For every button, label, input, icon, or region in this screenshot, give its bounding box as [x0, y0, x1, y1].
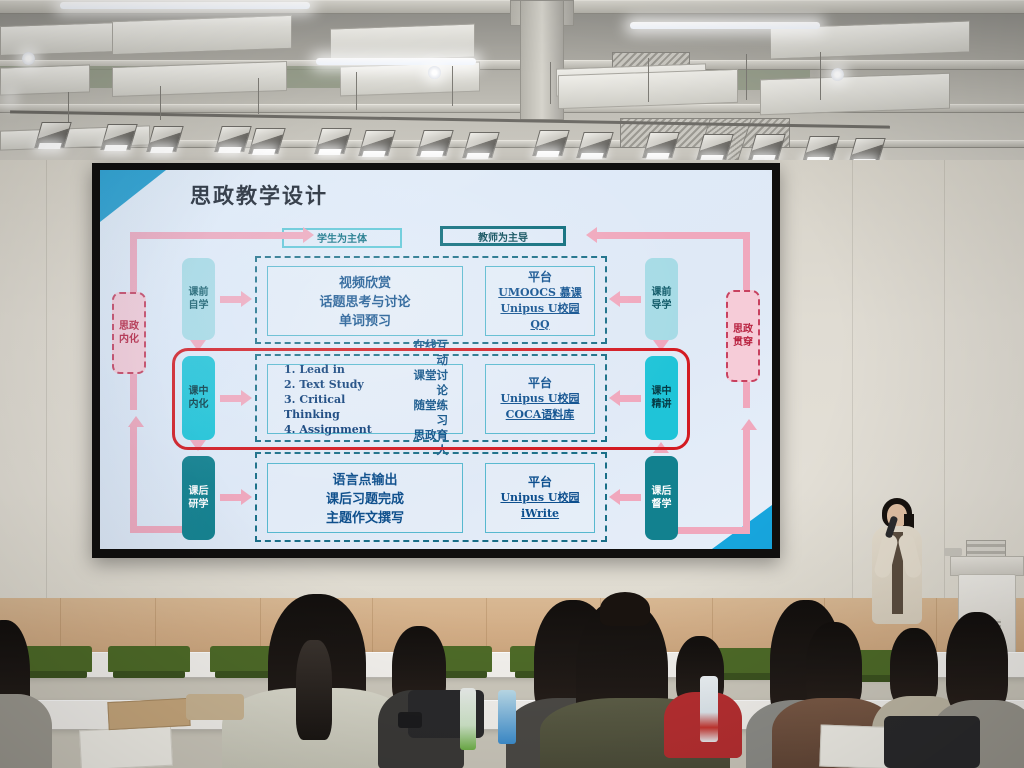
arrow-segment	[596, 232, 750, 239]
row-group-3: 语言点输出 课后习题完成 主题作文撰写 平台 Unipus U校园 iWrite	[255, 452, 607, 542]
row-group-2: 1. Lead in 2. Text Study 3. Critical Thi…	[255, 354, 607, 442]
activity-cn-item: 课堂讨论	[403, 369, 448, 399]
header-chip-teacher: 教师为主导	[440, 226, 566, 246]
paper-sheet	[79, 726, 173, 768]
platform-title: 平台	[528, 269, 552, 285]
student-body	[0, 694, 52, 768]
arrow-segment	[666, 527, 750, 534]
role-box-left-pre: 课前 自学	[182, 258, 215, 340]
lectern-mic-stand	[944, 548, 962, 556]
platform-item: QQ	[530, 317, 549, 333]
role-line1: 课前	[189, 286, 209, 299]
slide-title: 思政教学设计	[190, 180, 328, 210]
water-bottle	[700, 676, 718, 742]
water-bottle	[498, 690, 516, 744]
ceiling-spot-light	[428, 66, 441, 79]
platform-card-1: 平台 UMOOCS 慕课 Unipus U校园 QQ	[485, 266, 595, 336]
handbag	[186, 694, 244, 720]
activity-en-item: 4. Assignment	[284, 422, 403, 437]
arrow-segment	[130, 232, 305, 239]
ceiling-tube-light	[60, 2, 310, 9]
arrow-head	[128, 416, 144, 427]
student-ponytail	[600, 592, 650, 626]
arrow-segment	[130, 425, 137, 533]
platform-title: 平台	[528, 474, 552, 490]
activity-line: 视频欣赏	[339, 273, 391, 292]
role-box-right-pre: 课前 导学	[645, 258, 678, 340]
platform-item: iWrite	[521, 506, 559, 522]
ceiling-spot-light	[831, 68, 844, 81]
activity-cn-item: 在线互动	[403, 339, 448, 369]
activity-line: 话题思考与讨论	[319, 292, 410, 311]
ceiling-tube-light	[316, 58, 476, 65]
corner-triangle-icon	[100, 170, 166, 222]
role-box-right-during: 课中 精讲	[645, 356, 678, 440]
platform-title: 平台	[528, 375, 552, 391]
activity-line: 课后习题完成	[326, 489, 404, 508]
arrow-head	[303, 227, 314, 243]
platform-item: Unipus U校园	[500, 301, 579, 317]
platform-item: COCA语料库	[506, 407, 575, 423]
activity-en-item: 3. Critical Thinking	[284, 392, 403, 422]
pink-left-line1: 思政	[119, 320, 139, 333]
role-line1: 课中	[652, 385, 672, 398]
arrow-head	[741, 419, 757, 430]
role-line2: 导学	[652, 299, 672, 312]
role-line1: 课后	[189, 485, 209, 498]
presenter	[862, 498, 936, 628]
role-box-right-post: 课后 督学	[645, 456, 678, 540]
ceiling-tube-light	[630, 22, 820, 29]
role-line1: 课后	[652, 485, 672, 498]
activity-card-1: 视频欣赏 话题思考与讨论 单词预习	[267, 266, 463, 336]
chair	[108, 646, 190, 672]
pink-box-right: 思政 贯穿	[726, 290, 760, 382]
role-line1: 课中	[189, 385, 209, 398]
projection-screen: 思政教学设计 学生为主体 教师为主导 思政 内化	[92, 163, 780, 558]
pink-left-line2: 内化	[119, 333, 139, 346]
role-line2: 自学	[189, 299, 209, 312]
role-box-left-post: 课后 研学	[182, 456, 215, 540]
role-box-left-during: 课中 内化	[182, 356, 215, 440]
activity-en-item: 2. Text Study	[284, 377, 403, 392]
activity-card-2: 1. Lead in 2. Text Study 3. Critical Thi…	[267, 364, 463, 434]
activity-cn-list: 在线互动 课堂讨论 随堂练习 思政育人	[403, 339, 448, 459]
arrow-segment	[743, 428, 750, 534]
bag-strap	[398, 712, 422, 728]
lecture-hall-photo: 思政教学设计 学生为主体 教师为主导 思政 内化	[0, 0, 1024, 768]
role-line1: 课前	[652, 286, 672, 299]
role-line2: 研学	[189, 498, 209, 511]
platform-card-2: 平台 Unipus U校园 COCA语料库	[485, 364, 595, 434]
platform-item: UMOOCS 慕课	[498, 285, 581, 301]
activity-cn-item: 随堂练习	[403, 399, 448, 429]
pink-box-left: 思政 内化	[112, 292, 146, 374]
role-line2: 内化	[189, 398, 209, 411]
activity-line: 主题作文撰写	[326, 508, 404, 527]
lectern-top	[950, 556, 1024, 576]
ceiling-spot-light	[22, 52, 35, 65]
activity-card-3: 语言点输出 课后习题完成 主题作文撰写	[267, 463, 463, 533]
presentation-slide: 思政教学设计 学生为主体 教师为主导 思政 内化	[100, 170, 772, 549]
role-line2: 督学	[652, 498, 672, 511]
platform-card-3: 平台 Unipus U校园 iWrite	[485, 463, 595, 533]
pink-right-line2: 贯穿	[733, 336, 753, 349]
water-bottle	[460, 688, 476, 750]
activity-line: 单词预习	[339, 311, 391, 330]
activity-line: 语言点输出	[332, 470, 397, 489]
arrow-head	[586, 227, 597, 243]
role-line2: 精讲	[652, 398, 672, 411]
row-group-1: 视频欣赏 话题思考与讨论 单词预习 平台 UMOOCS 慕课 Unipus U校…	[255, 256, 607, 344]
platform-item: Unipus U校园	[500, 490, 579, 506]
activity-en-item: 1. Lead in	[284, 362, 403, 377]
pink-right-line1: 思政	[733, 323, 753, 336]
student-hair-strand	[296, 640, 332, 740]
cardboard-box	[107, 698, 190, 730]
activity-en-list: 1. Lead in 2. Text Study 3. Critical Thi…	[284, 362, 403, 437]
platform-item: Unipus U校园	[500, 391, 579, 407]
backpack	[884, 716, 980, 768]
